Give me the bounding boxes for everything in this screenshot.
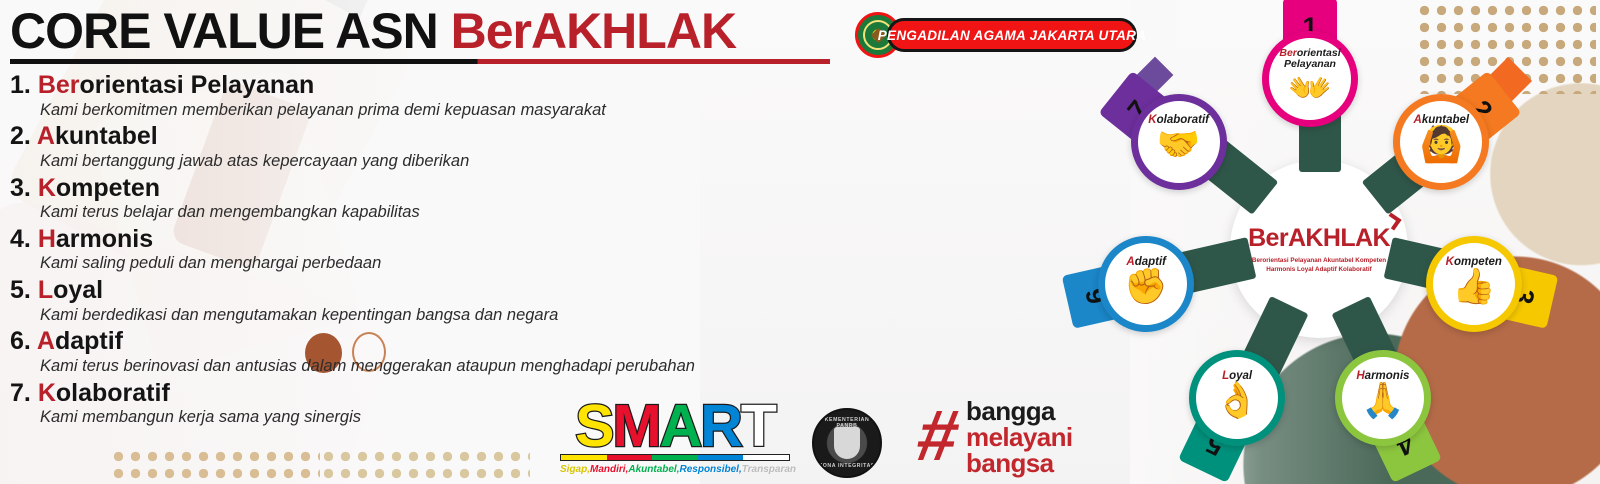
core-value-title: 5. Loyal [10, 276, 880, 306]
smart-tagline-word: Responsibel, [679, 464, 741, 475]
core-value-number: 2. [10, 122, 31, 150]
smart-tagline-word: Mandiri, [590, 464, 628, 475]
core-value-title: 1. Berorientasi Pelayanan [10, 71, 880, 101]
bangga-melayani-bangsa-logo: # bangga melayani bangsa [918, 398, 1073, 476]
core-value-title: 6. Adaptif [10, 327, 880, 357]
smart-tagline-word: Sigap, [560, 464, 590, 475]
smart-tagline-word: Transparan [742, 464, 796, 475]
core-value-item: 1. Berorientasi PelayananKami berkomitme… [10, 71, 880, 120]
zona-integritas-seal: KEMENTERIAN PANRB ZONA INTEGRITAS [812, 408, 882, 478]
smart-color-bar [698, 455, 744, 460]
wheel-node-harmonis[interactable]: Harmonis🙏 [1335, 350, 1431, 446]
core-value-list: 1. Berorientasi PelayananKami berkomitme… [10, 71, 880, 428]
berakhlak-wheel: BerAKHLAK Berorientasi Pelayanan Akuntab… [1060, 0, 1560, 484]
core-value-item: 3. KompetenKami terus belajar dan mengem… [10, 174, 880, 223]
core-value-banner: CORE VALUE ASN BerAKHLAK 1. Berorientasi… [0, 0, 1600, 484]
wheel-node-kompeten[interactable]: Kompeten👍 [1426, 236, 1522, 332]
core-value-initial: K [38, 379, 56, 407]
core-value-item: 6. AdaptifKami terus berinovasi dan antu… [10, 327, 880, 376]
headline-underline [10, 59, 830, 64]
wheel-node-akuntabel[interactable]: Akuntabel🙆 [1393, 94, 1489, 190]
core-value-name: olaboratif [56, 379, 170, 407]
raised-fist-icon: ✊ [1124, 269, 1168, 304]
hashtag-icon: # [913, 407, 963, 466]
ok-hand-icon: 👌 [1215, 383, 1259, 418]
handshake-icon: 🤝 [1157, 127, 1201, 162]
core-value-number: 4. [10, 225, 31, 253]
seal-top-text: KEMENTERIAN PANRB [814, 417, 880, 429]
core-value-initial: Ber [38, 71, 80, 99]
smart-tagline: Sigap,Mandiri,Akuntabel,Responsibel,Tran… [560, 464, 790, 475]
open-hands-icon: 👐 [1288, 71, 1332, 106]
headline-main: CORE VALUE ASN [10, 3, 451, 59]
hand-on-chest-icon: 🙆 [1420, 127, 1464, 162]
smart-letter: T [741, 400, 775, 453]
wheel-hub-subtitle: Berorientasi Pelayanan Akuntabel Kompete… [1252, 256, 1386, 275]
dot-pattern-bottom-left [110, 448, 320, 484]
wheel-node-initial: K [1148, 114, 1156, 126]
smart-color-bar [607, 455, 653, 460]
smart-logo: SMART Sigap,Mandiri,Akuntabel,Responsibe… [560, 400, 790, 475]
wheel-hub-title: BerAKHLAK [1248, 224, 1390, 253]
smart-letter: A [660, 400, 701, 453]
wheel-hub-subtitle-line2: Harmonis Loyal Adaptif Kolaboratif [1252, 265, 1386, 274]
core-value-number: 5. [10, 276, 31, 304]
wheel-node-kolaboratif[interactable]: Kolaboratif🤝 [1131, 94, 1227, 190]
bangga-line1: bangga [966, 398, 1073, 424]
core-value-description: Kami saling peduli dan menghargai perbed… [40, 254, 880, 274]
core-value-title: 2. Akuntabel [10, 122, 880, 152]
core-value-description: Kami berdedikasi dan mengutamakan kepent… [40, 306, 880, 326]
bangga-line2: melayani [966, 424, 1073, 450]
page-title: CORE VALUE ASN BerAKHLAK [10, 6, 880, 57]
wheel-node-loyal[interactable]: Loyal👌 [1189, 350, 1285, 446]
smart-color-bar [652, 455, 698, 460]
core-value-name: daptif [55, 327, 123, 355]
core-value-name: kuntabel [55, 122, 158, 150]
core-value-initial: K [38, 174, 56, 202]
core-value-name: armonis [56, 225, 153, 253]
wheel-node-berorientasi[interactable]: BerorientasiPelayanan👐 [1262, 31, 1358, 127]
core-value-description: Kami terus belajar dan mengembangkan kap… [40, 203, 880, 223]
smart-color-bars [560, 454, 790, 461]
core-value-description: Kami terus berinovasi dan antusias dalam… [40, 357, 880, 377]
smart-letter: R [700, 400, 741, 453]
wheel-hub-title-text: BerAKHLAK [1248, 224, 1390, 252]
core-value-name: orientasi Pelayanan [80, 71, 315, 99]
smart-letters: SMART [560, 400, 790, 453]
core-value-number: 7. [10, 379, 31, 407]
headline-berakhlak: BerAKHLAK [451, 3, 736, 59]
smart-color-bar [743, 455, 789, 460]
smart-letter: S [575, 400, 612, 453]
core-value-initial: A [37, 122, 55, 150]
smart-color-bar [561, 455, 607, 460]
thumbs-up-icon: 👍 [1452, 269, 1496, 304]
seal-outer-ring: KEMENTERIAN PANRB ZONA INTEGRITAS [812, 408, 882, 478]
core-value-initial: A [37, 327, 55, 355]
wheel-node-adaptif[interactable]: Adaptif✊ [1098, 236, 1194, 332]
bangga-line3: bangsa [966, 450, 1073, 476]
core-value-number: 3. [10, 174, 31, 202]
seal-shield-icon [834, 427, 860, 459]
praying-hands-icon: 🙏 [1361, 383, 1405, 418]
core-value-description: Kami bertanggung jawab atas kepercayaan … [40, 152, 880, 172]
core-value-name: ompeten [56, 174, 160, 202]
core-value-description: Kami berkomitmen memberikan pelayanan pr… [40, 101, 880, 121]
smart-tagline-word: Akuntabel, [628, 464, 679, 475]
core-value-number: 1. [10, 71, 31, 99]
wheel-node-label: BerorientasiPelayanan [1279, 48, 1340, 70]
core-value-initial: L [38, 276, 53, 304]
smart-letter: M [612, 400, 659, 453]
core-value-initial: H [38, 225, 56, 253]
core-value-title: 3. Kompeten [10, 174, 880, 204]
core-value-item: 4. HarmonisKami saling peduli dan mengha… [10, 225, 880, 274]
core-value-item: 5. LoyalKami berdedikasi dan mengutamaka… [10, 276, 880, 325]
core-value-text-column: CORE VALUE ASN BerAKHLAK 1. Berorientasi… [10, 6, 880, 430]
wheel-hub-subtitle-line1: Berorientasi Pelayanan Akuntabel Kompete… [1252, 256, 1386, 265]
core-value-item: 2. AkuntabelKami bertanggung jawab atas … [10, 122, 880, 171]
dot-pattern-bottom-center [320, 448, 530, 484]
core-value-name: oyal [53, 276, 103, 304]
bangga-words: bangga melayani bangsa [966, 398, 1073, 476]
core-value-number: 6. [10, 327, 31, 355]
seal-bottom-text: ZONA INTEGRITAS [814, 463, 880, 469]
core-value-title: 4. Harmonis [10, 225, 880, 255]
